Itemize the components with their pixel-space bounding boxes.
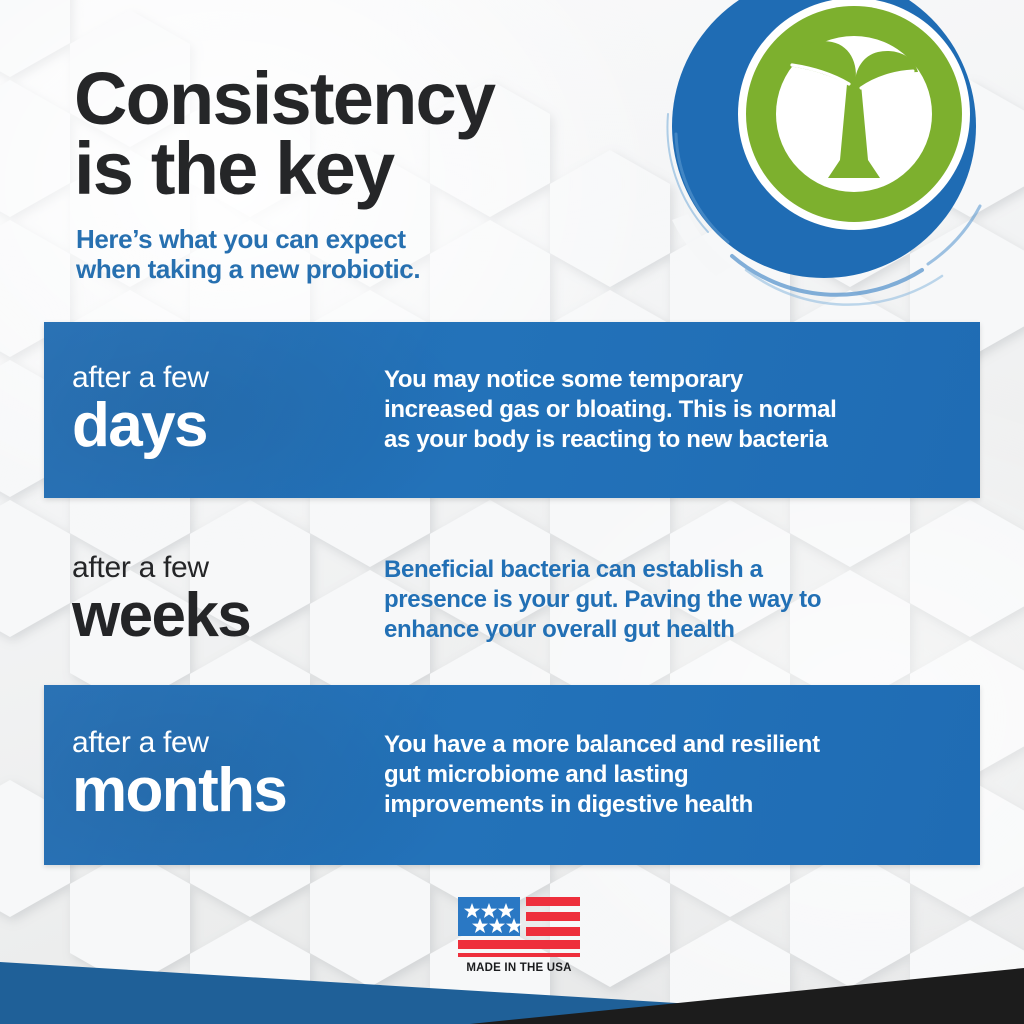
row-body-line-2: presence is your gut. Paving the way to: [384, 585, 980, 615]
row-body-line-2: gut microbiome and lasting: [384, 760, 980, 790]
row-label-weeks: after a few weeks: [44, 553, 384, 647]
bottom-decoration: [0, 934, 1024, 1024]
timeline-row-weeks: after a few weeks Beneficial bacteria ca…: [44, 530, 980, 670]
row-body-line-2: increased gas or bloating. This is norma…: [384, 395, 980, 425]
row-label-prefix: after a few: [72, 728, 384, 758]
row-label-period: months: [72, 760, 384, 822]
page-subtitle-line-2: when taking a new probiotic.: [76, 254, 596, 284]
page-subtitle: Here’s what you can expect when taking a…: [76, 224, 596, 285]
row-body-months: You have a more balanced and resilient g…: [384, 730, 980, 821]
row-body-line-1: Beneficial bacteria can establish a: [384, 555, 980, 585]
timeline-row-days: after a few days You may notice some tem…: [44, 322, 980, 498]
row-label-period: weeks: [72, 585, 384, 647]
row-label-period: days: [72, 395, 384, 457]
row-body-line-3: as your body is reacting to new bacteria: [384, 425, 980, 455]
row-label-days: after a few days: [44, 363, 384, 457]
page-subtitle-line-1: Here’s what you can expect: [76, 224, 406, 254]
page-title-line-2: is the key: [74, 134, 694, 204]
row-body-days: You may notice some temporary increased …: [384, 365, 980, 456]
infographic-canvas: Consistency is the key Here’s what you c…: [0, 0, 1024, 1024]
row-body-line-1: You may notice some temporary: [384, 365, 980, 395]
sprout-leaf-logo: [628, 0, 1024, 324]
timeline-row-months: after a few months You have a more balan…: [44, 685, 980, 865]
page-title: Consistency is the key: [74, 64, 694, 205]
row-label-prefix: after a few: [72, 553, 384, 583]
row-body-weeks: Beneficial bacteria can establish a pres…: [384, 555, 980, 646]
row-body-line-3: enhance your overall gut health: [384, 615, 980, 645]
row-body-line-1: You have a more balanced and resilient: [384, 730, 980, 760]
row-label-months: after a few months: [44, 728, 384, 822]
row-body-line-3: improvements in digestive health: [384, 790, 980, 820]
row-label-prefix: after a few: [72, 363, 384, 393]
